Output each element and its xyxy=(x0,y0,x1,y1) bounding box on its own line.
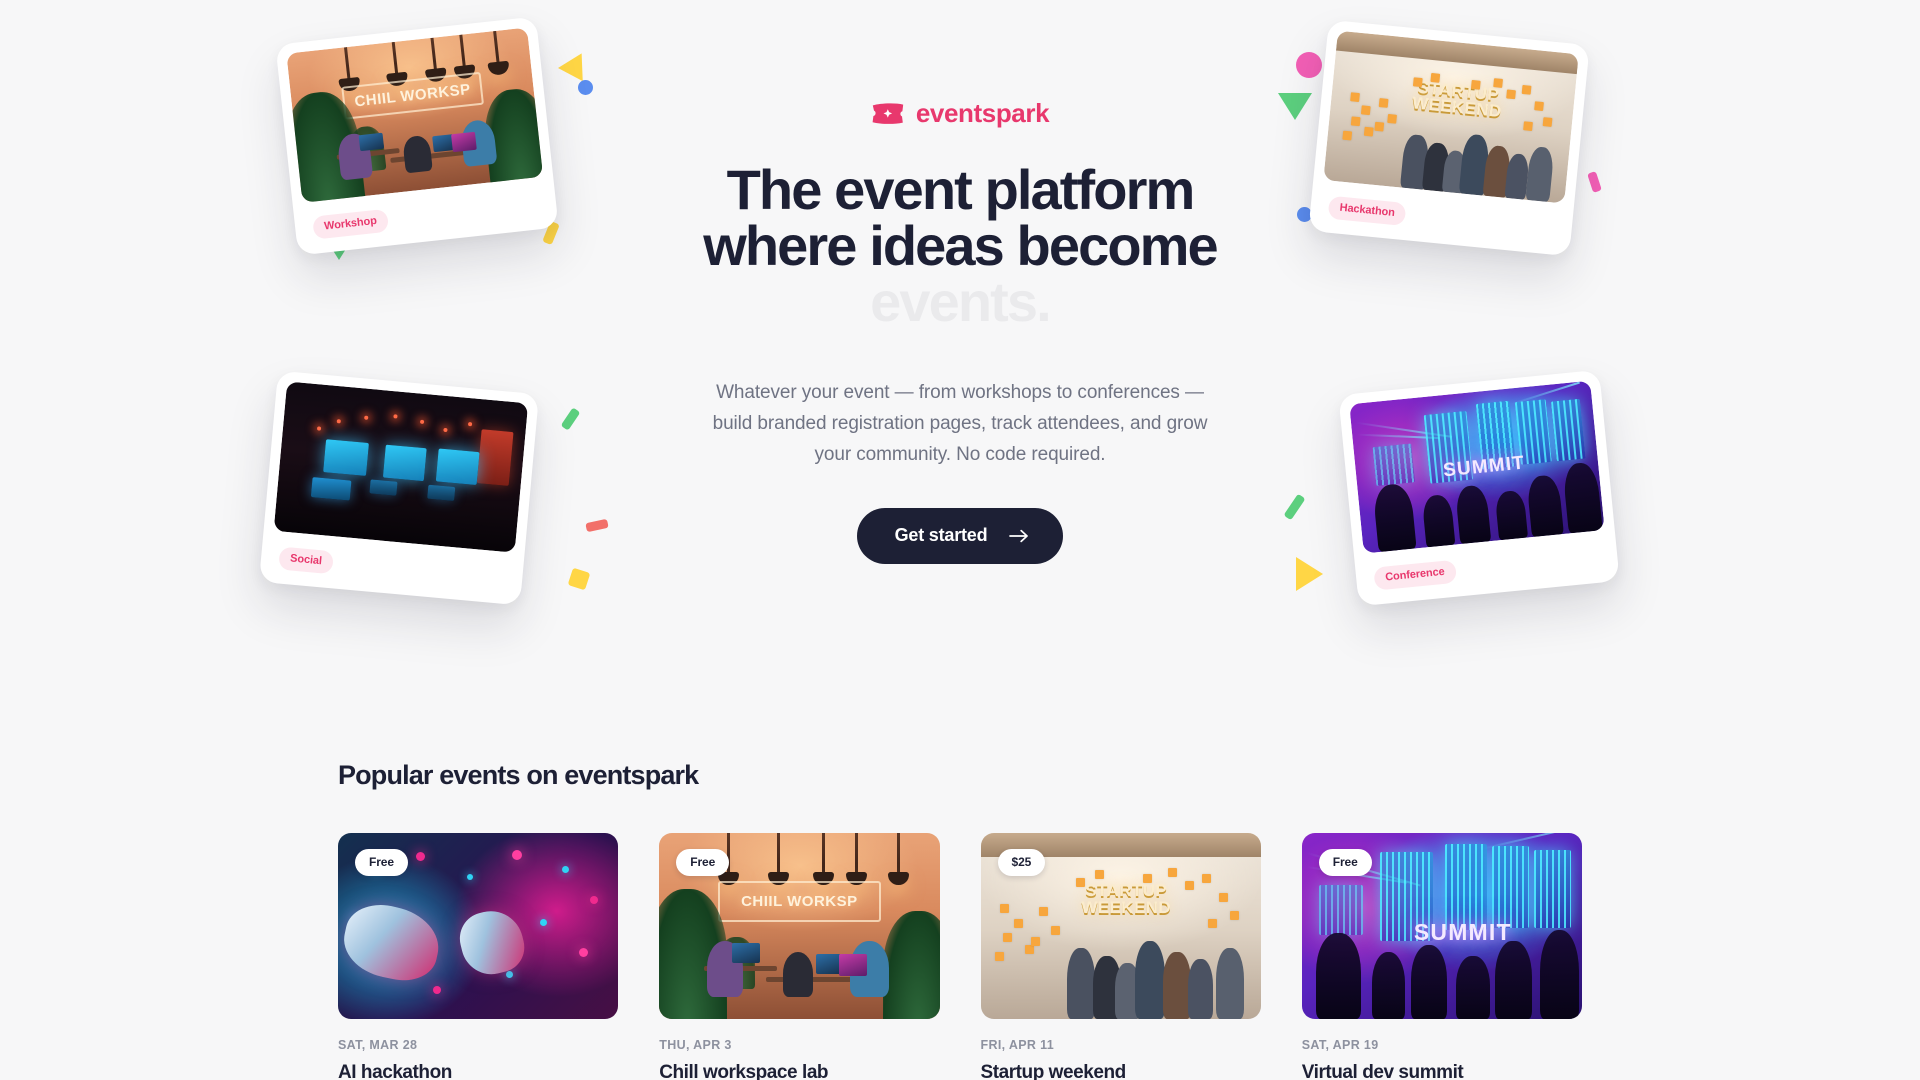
popular-events-title: Popular events on eventspark xyxy=(338,760,1582,791)
event-price-badge: Free xyxy=(1319,849,1372,876)
floating-card-tag: Workshop xyxy=(312,208,389,239)
startup-scene: STARTUP WEEKEND xyxy=(1323,31,1578,204)
event-thumbnail: Free xyxy=(338,833,618,1019)
summit-sign-text: SUMMIT xyxy=(1414,919,1512,946)
floating-card-tag: Conference xyxy=(1373,559,1456,590)
event-name: AI hackathon xyxy=(338,1061,618,1080)
hero-subtitle: Whatever your event — from workshops to … xyxy=(650,378,1270,470)
get-started-label: Get started xyxy=(895,525,988,546)
event-thumbnail: $25 STARTUP WEEKEND xyxy=(981,833,1261,1019)
cowork-sign-text: CHIIL WORKSP xyxy=(718,881,881,922)
event-date: SAT, APR 19 xyxy=(1302,1038,1582,1052)
event-thumbnail: Free SUMMIT xyxy=(1302,833,1582,1019)
headline-line-2: where ideas become xyxy=(650,218,1270,274)
decor-bar-green-lower-right xyxy=(1283,494,1305,521)
decor-triangle-green-right xyxy=(1278,93,1312,120)
social-scene xyxy=(274,381,529,552)
event-date: SAT, MAR 28 xyxy=(338,1038,618,1052)
ticket-sparkle-icon xyxy=(871,102,905,125)
startup-sign-text: STARTUP WEEKEND xyxy=(1053,883,1199,916)
decor-triangle-yellow xyxy=(558,47,594,81)
headline-line-3: events. xyxy=(650,274,1270,330)
event-name: Virtual dev summit xyxy=(1302,1061,1582,1080)
decor-dot-blue-top xyxy=(578,80,593,95)
floating-card-social[interactable]: Social xyxy=(259,371,539,606)
event-date: THU, APR 3 xyxy=(659,1038,939,1052)
decor-bar-coral-lower xyxy=(585,519,608,532)
decor-bar-yellow-lower xyxy=(568,568,591,591)
cowork-scene: CHIIL WORKSP xyxy=(286,27,543,202)
event-date: FRI, APR 11 xyxy=(981,1038,1261,1052)
floating-card-tag: Hackathon xyxy=(1328,195,1407,225)
hero-content: eventspark The event platform where idea… xyxy=(650,96,1270,564)
floating-card-workshop[interactable]: CHIIL WORKSP Workshop xyxy=(275,16,558,255)
event-card[interactable]: $25 STARTUP WEEKEND xyxy=(981,833,1261,1080)
hero-headline: The event platform where ideas become ev… xyxy=(650,162,1270,330)
floating-card-hackathon[interactable]: STARTUP WEEKEND xyxy=(1308,20,1589,257)
brand-name: eventspark xyxy=(916,98,1049,129)
hero-cta-wrapper: Get started xyxy=(650,508,1270,564)
decor-bar-pink-right xyxy=(1587,171,1602,193)
decor-triangle-yellow-lower-right xyxy=(1296,557,1323,591)
event-price-badge: $25 xyxy=(998,849,1046,876)
subtitle-line-1: Whatever your event — from workshops to … xyxy=(716,382,1204,403)
subtitle-line-3: your community. No code required. xyxy=(815,444,1106,465)
brand-logo[interactable]: eventspark xyxy=(650,96,1270,130)
floating-card-conference[interactable]: SUMMIT Conference xyxy=(1338,370,1619,607)
event-card[interactable]: Free CHIIL WORKSP xyxy=(659,833,939,1080)
arrow-right-icon xyxy=(1009,529,1029,543)
event-grid: Free xyxy=(338,833,1582,1080)
decor-dot-pink-right xyxy=(1296,52,1322,78)
cowork-sign-text: CHIIL WORKSP xyxy=(341,72,484,120)
decor-bar-green-left-lower xyxy=(561,407,581,430)
event-card[interactable]: Free xyxy=(338,833,618,1080)
get-started-button[interactable]: Get started xyxy=(857,508,1064,564)
floating-card-thumbnail: STARTUP WEEKEND xyxy=(1323,31,1578,204)
event-price-badge: Free xyxy=(676,849,729,876)
landing-page: CHIIL WORKSP Workshop xyxy=(0,0,1920,1080)
event-thumbnail: Free CHIIL WORKSP xyxy=(659,833,939,1019)
event-name: Startup weekend xyxy=(981,1061,1261,1080)
floating-card-tag: Social xyxy=(278,546,334,574)
floating-card-thumbnail: CHIIL WORKSP xyxy=(286,27,543,202)
floating-card-thumbnail: SUMMIT xyxy=(1349,381,1604,554)
floating-card-thumbnail xyxy=(274,381,529,552)
event-name: Chill workspace lab xyxy=(659,1061,939,1080)
event-price-badge: Free xyxy=(355,849,408,876)
hero-section: CHIIL WORKSP Workshop xyxy=(0,0,1920,660)
popular-events-section: Popular events on eventspark Free xyxy=(0,760,1920,1080)
subtitle-line-2: build branded registration pages, track … xyxy=(713,413,1208,434)
summit-scene: SUMMIT xyxy=(1349,381,1604,554)
headline-line-1: The event platform xyxy=(650,162,1270,218)
event-card[interactable]: Free SUMMIT xyxy=(1302,833,1582,1080)
